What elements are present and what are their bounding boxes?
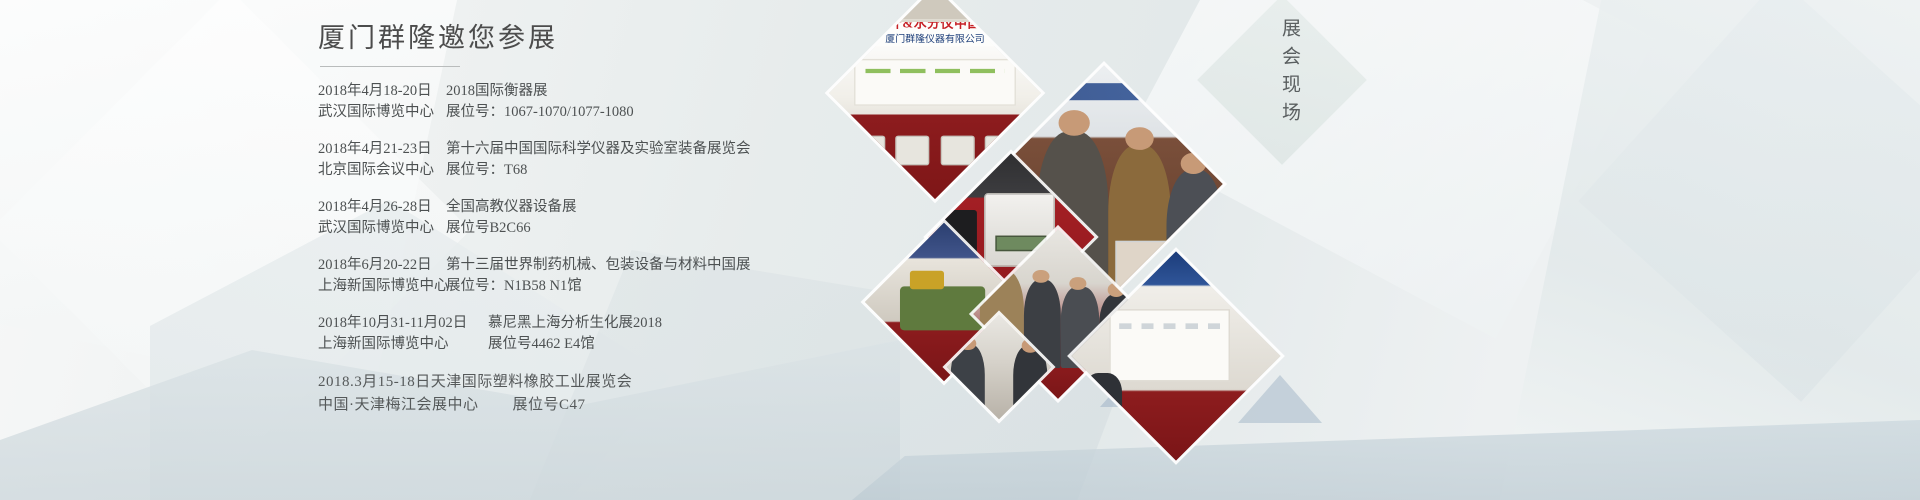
event-date: 2018年4月26-28日 (318, 197, 446, 218)
event-date: 2018年10月31-11月02日 (318, 313, 488, 334)
event-booth: 展位号C47 (513, 394, 586, 417)
event-name: 第十六届中国国际科学仪器及实验室装备展览会 (446, 139, 751, 160)
photo-collage: 密度计&水分仪中国供应 厦门群隆仪器有限公司 Xiamen Qun long I… (840, 0, 1260, 500)
event-name: 2018国际衡器展 (446, 81, 548, 102)
event-booth: 展位号B2C66 (446, 218, 531, 239)
collage-vertical-label: 展会现场 (1276, 18, 1303, 130)
event-venue: 武汉国际博览中心 (318, 102, 446, 123)
event-venue: 北京国际会议中心 (318, 160, 446, 181)
event-venue: 中国·天津梅江会展中心 (318, 394, 479, 417)
event-name: 第十三届世界制药机械、包装设备与材料中国展 (446, 255, 751, 276)
event-name: 慕尼黑上海分析生化展2018 (488, 313, 662, 334)
background-facet (1500, 0, 1920, 500)
event-date: 2018年4月18-20日 (318, 81, 446, 102)
event-venue: 武汉国际博览中心 (318, 218, 446, 239)
booth-instrument-table (850, 136, 1020, 166)
background-facet (1578, 0, 1920, 402)
event-booth: 展位号：T68 (446, 160, 527, 181)
booth-banner-main: 密度计&水分仪中国供应 (862, 18, 1008, 32)
event-booth: 展位号4462 E4馆 (488, 334, 595, 355)
event-venue: 上海新国际博览中心 (318, 334, 488, 355)
event-date: 2018年4月21-23日 (318, 139, 446, 160)
event-booth: 展位号：N1B58 N1馆 (446, 276, 582, 297)
promo-banner: 厦门群隆邀您参展 2018年4月18-20日 2018国际衡器展 武汉国际博览中… (0, 0, 1920, 500)
event-venue: 上海新国际博览中心 (318, 276, 446, 297)
event-name: 全国高教仪器设备展 (446, 197, 577, 218)
booth-banner-sub: 厦门群隆仪器有限公司 (885, 32, 984, 46)
booth-product-panel (854, 59, 1016, 106)
event-date: 2018年6月20-22日 (318, 255, 446, 276)
event-booth: 展位号：1067-1070/1077-1080 (446, 102, 634, 123)
title-underline (320, 66, 460, 67)
